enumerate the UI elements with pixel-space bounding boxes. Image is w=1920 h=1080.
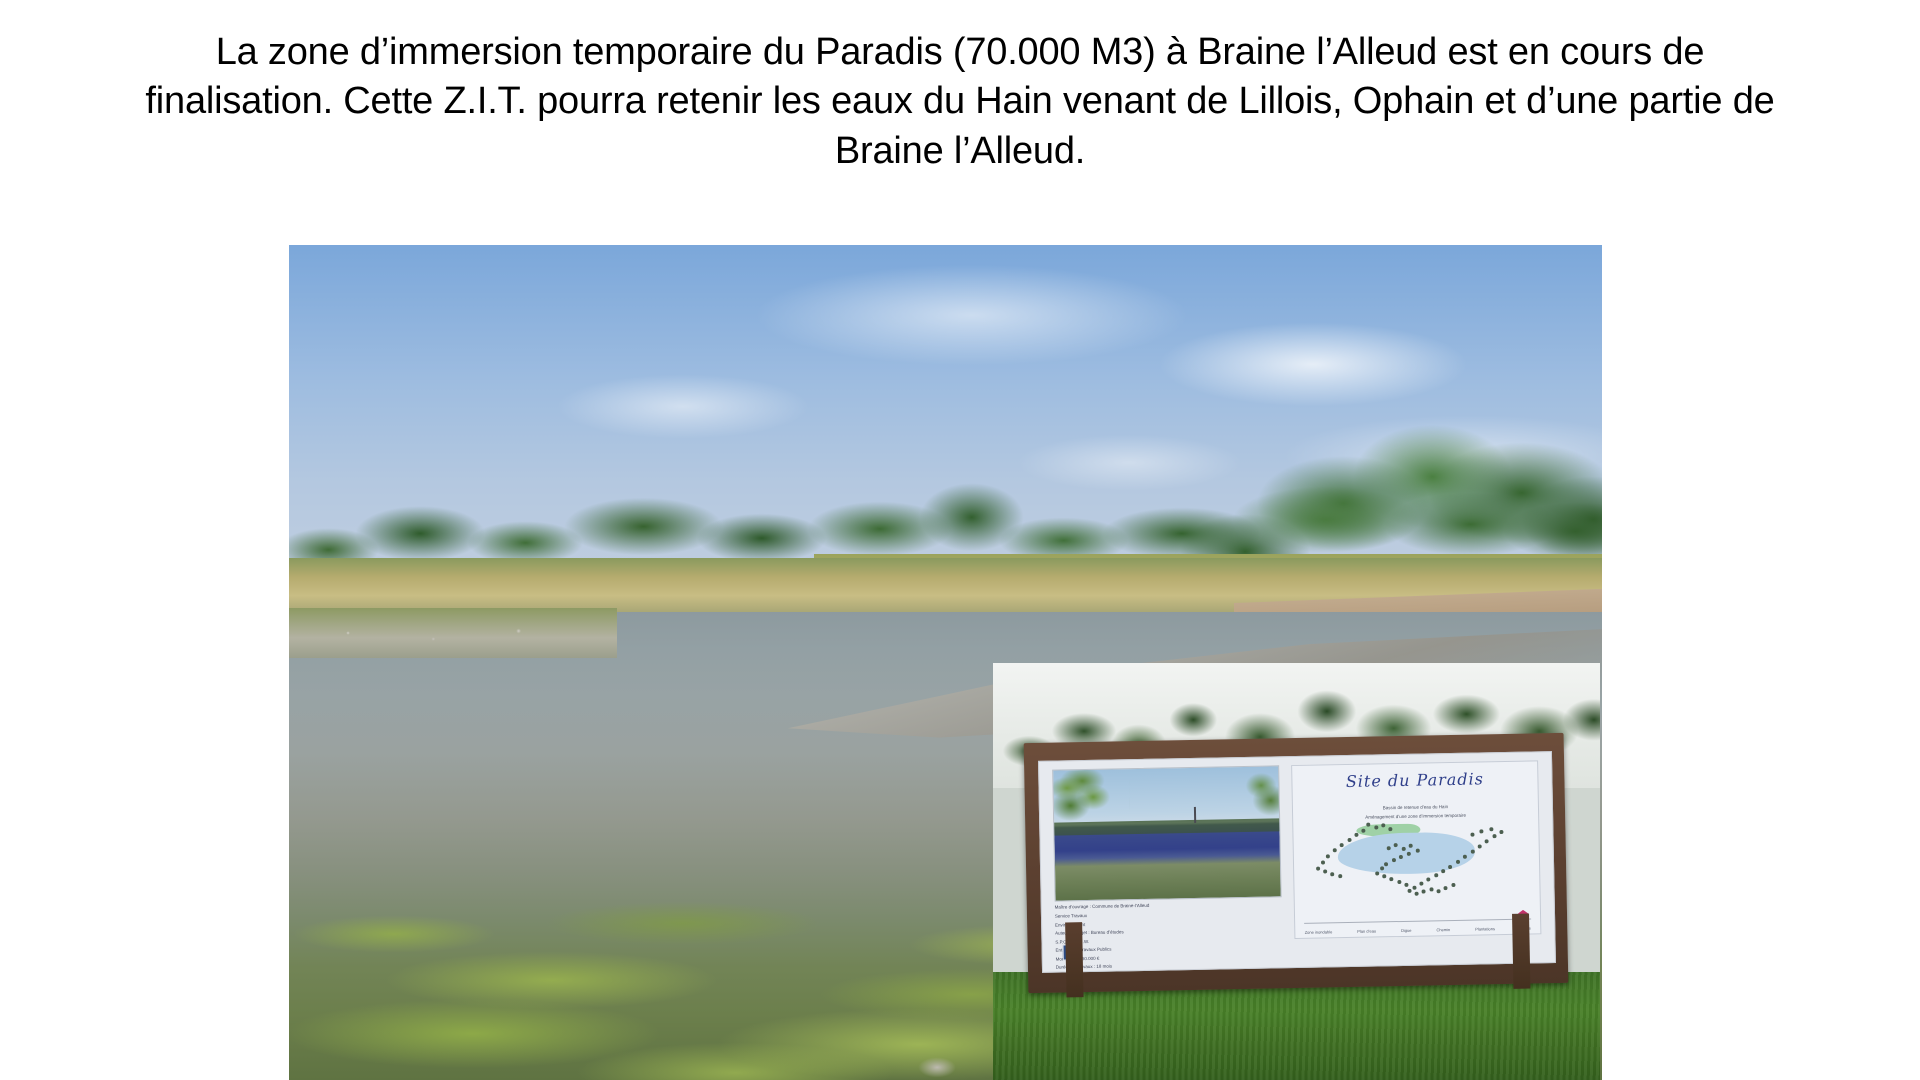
map-legend-item: Chemin [1437,927,1451,932]
inset-sign-photo: Maître d’ouvrage : Commune de Braine-l’A… [993,663,1600,1080]
map-legend-item: Plan d’eau [1358,928,1377,933]
sign-caption-block: Maître d’ouvrage : Commune de Braine-l’A… [1055,900,1292,963]
map-tree-icon [1367,822,1371,826]
map-tree-icon [1375,871,1379,875]
map-tree-symbols [1293,813,1541,918]
map-tree-icon [1399,855,1403,859]
map-tree-icon [1383,874,1387,878]
map-tree-icon [1444,886,1448,890]
sign-title: Site du Paradis [1292,768,1538,792]
map-tree-icon [1456,859,1460,863]
map-tree-icon [1449,865,1453,869]
map-tree-icon [1326,854,1330,858]
map-tree-icon [1437,889,1441,893]
map-tree-icon [1420,881,1424,885]
map-tree-icon [1430,887,1434,891]
map-tree-icon [1338,874,1342,878]
caption-line-3: Braine l’Alleud. [30,127,1890,176]
map-tree-icon [1316,866,1320,870]
map-tree-icon [1340,843,1344,847]
board-left-post [1065,922,1084,997]
map-tree-icon [1324,869,1328,873]
map-tree-icon [1389,827,1393,831]
map-tree-icon [1362,828,1366,832]
map-tree-icon [1409,843,1413,847]
map-tree-icon [1331,872,1335,876]
treeline-region [289,450,1602,567]
map-tree-icon [1407,888,1411,892]
map-tree-icon [1374,825,1378,829]
map-tree-icon [1397,880,1401,884]
map-tree-icon [1427,877,1431,881]
slide-root: La zone d’immersion temporaire du Paradi… [0,0,1920,1080]
map-tree-icon [1387,846,1391,850]
map-tree-icon [1390,877,1394,881]
map-tree-icon [1490,827,1494,831]
map-tree-icon [1485,839,1489,843]
map-tree-icon [1405,882,1409,886]
page-title: La zone d’immersion temporaire du Paradi… [30,28,1890,176]
map-legend-item: Zone inondable [1305,929,1333,935]
map-tree-icon [1392,858,1396,862]
map-tree-icon [1492,834,1496,838]
sign-left-photo-panel [1052,765,1282,902]
map-tree-icon [1470,832,1474,836]
map-tree-icon [1442,869,1446,873]
map-tree-icon [1452,883,1456,887]
map-legend-item: Plantations [1475,926,1495,931]
caption-line-2: finalisation. Cette Z.I.T. pourra reteni… [30,77,1890,126]
map-legend-divider [1305,919,1531,924]
map-tree-icon [1402,847,1406,851]
map-legend-item: Digue [1401,928,1412,933]
map-tree-icon [1333,848,1337,852]
map-tree-icon [1380,866,1384,870]
caption-line-1: La zone d’immersion temporaire du Paradi… [30,28,1890,77]
board-right-post [1513,914,1532,989]
map-tree-icon [1417,848,1421,852]
left-shore-region [289,608,617,658]
map-tree-icon [1478,844,1482,848]
map-tree-icon [1471,849,1475,853]
map-tree-icon [1385,862,1389,866]
sign-photo-right-trees [1220,771,1280,835]
map-tree-icon [1422,889,1426,893]
map-tree-icon [1434,873,1438,877]
map-tree-icon [1500,830,1504,834]
map-tree-icon [1394,843,1398,847]
board-face: Maître d’ouvrage : Commune de Braine-l’A… [1038,751,1556,973]
map-tree-icon [1355,832,1359,836]
map-tree-icon [1348,838,1352,842]
map-legend: Zone inondable Plan d’eau Digue Chemin P… [1305,925,1531,934]
map-tree-icon [1463,854,1467,858]
map-tree-icon [1480,829,1484,833]
information-board: Maître d’ouvrage : Commune de Braine-l’A… [1024,733,1569,994]
map-tree-icon [1382,823,1386,827]
map-tree-icon [1407,851,1411,855]
map-tree-icon [1321,860,1325,864]
map-tree-icon [1412,885,1416,889]
sign-map-panel: Site du Paradis Bassin de retenue d’eau … [1291,760,1542,939]
map-tree-icon [1415,891,1419,895]
